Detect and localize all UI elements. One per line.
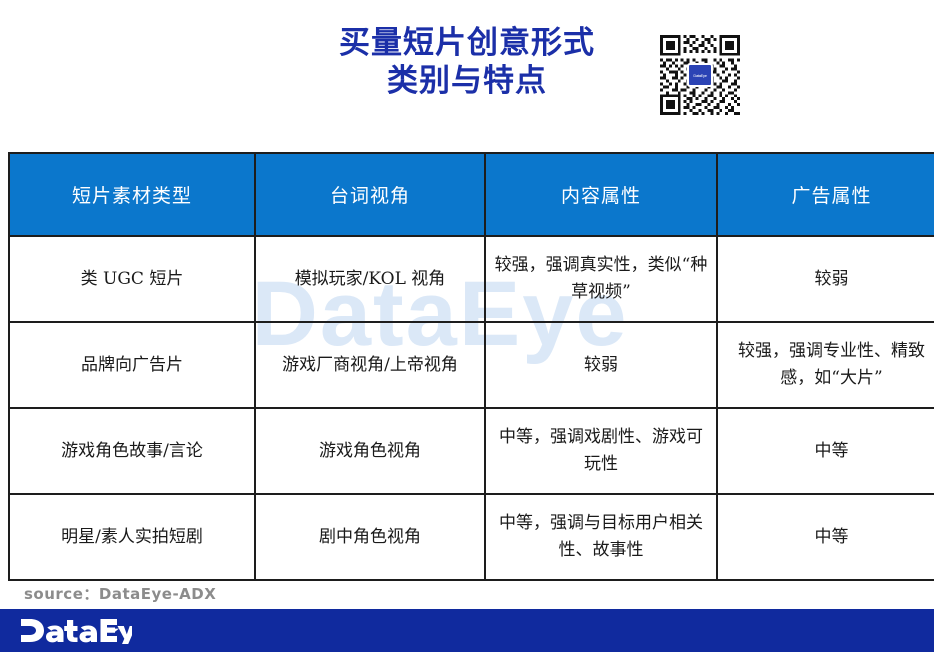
- cell-ad-attribute: 较弱: [717, 236, 934, 322]
- table-header-row: 短片素材类型 台词视角 内容属性 广告属性: [9, 153, 934, 236]
- column-header-content-attribute: 内容属性: [485, 153, 717, 236]
- qr-center-logo: DataEye: [687, 63, 713, 87]
- dataeye-logo: [20, 617, 132, 644]
- page-title-line-2: 类别与特点: [0, 62, 934, 100]
- table-row: 类 UGC 短片 模拟玩家/KOL 视角 较强，强调真实性，类似“种草视频” 较…: [9, 236, 934, 322]
- feature-matrix-table: 短片素材类型 台词视角 内容属性 广告属性 类 UGC 短片 模拟玩家/KOL …: [8, 152, 925, 581]
- cell-content-attribute: 中等，强调戏剧性、游戏可玩性: [485, 408, 717, 494]
- cell-content-attribute: 中等，强调与目标用户相关性、故事性: [485, 494, 717, 580]
- cell-material-type: 明星/素人实拍短剧: [9, 494, 255, 580]
- source-note: source：DataEye-ADX: [24, 583, 216, 604]
- cell-script-perspective: 剧中角色视角: [255, 494, 485, 580]
- page-title: 买量短片创意形式 类别与特点: [0, 24, 934, 100]
- cell-content-attribute: 较弱: [485, 322, 717, 408]
- cell-script-perspective: 游戏角色视角: [255, 408, 485, 494]
- page-footer: [0, 609, 934, 652]
- column-header-script-perspective: 台词视角: [255, 153, 485, 236]
- cell-script-perspective: 模拟玩家/KOL 视角: [255, 236, 485, 322]
- qr-code-icon[interactable]: DataEye: [657, 32, 743, 118]
- cell-ad-attribute: 中等: [717, 408, 934, 494]
- cell-ad-attribute: 较强，强调专业性、精致感，如“大片”: [717, 322, 934, 408]
- cell-material-type: 游戏角色故事/言论: [9, 408, 255, 494]
- column-header-ad-attribute: 广告属性: [717, 153, 934, 236]
- table-row: 游戏角色故事/言论 游戏角色视角 中等，强调戏剧性、游戏可玩性 中等: [9, 408, 934, 494]
- table-row: 品牌向广告片 游戏厂商视角/上帝视角 较弱 较强，强调专业性、精致感，如“大片”: [9, 322, 934, 408]
- cell-script-perspective: 游戏厂商视角/上帝视角: [255, 322, 485, 408]
- cell-content-attribute: 较强，强调真实性，类似“种草视频”: [485, 236, 717, 322]
- column-header-material-type: 短片素材类型: [9, 153, 255, 236]
- table-row: 明星/素人实拍短剧 剧中角色视角 中等，强调与目标用户相关性、故事性 中等: [9, 494, 934, 580]
- cell-material-type: 品牌向广告片: [9, 322, 255, 408]
- cell-material-type: 类 UGC 短片: [9, 236, 255, 322]
- page-header: 买量短片创意形式 类别与特点: [0, 0, 934, 140]
- cell-ad-attribute: 中等: [717, 494, 934, 580]
- qr-center-logo-label: DataEye: [693, 73, 706, 78]
- page-title-line-1: 买量短片创意形式: [0, 24, 934, 62]
